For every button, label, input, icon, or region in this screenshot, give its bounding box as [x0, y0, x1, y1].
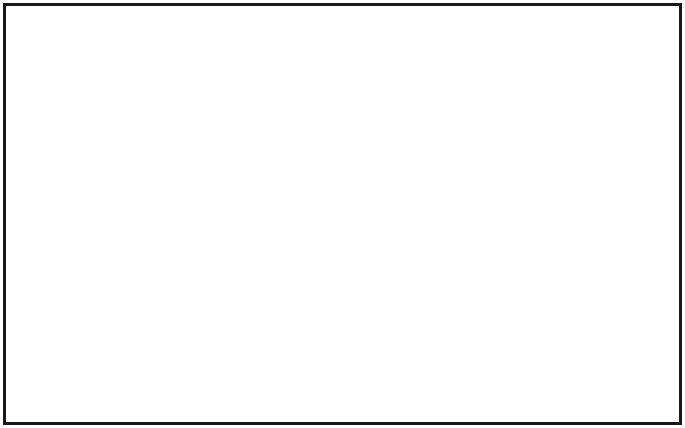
node-gossypin-label: Gossypin: [302, 61, 394, 85]
node-medicine-face: Medicine: [56, 176, 232, 271]
node-medicine-label: Medicine: [104, 213, 185, 234]
node-others[interactable]: Others: [466, 156, 662, 271]
node-gossypin-face: Gossypin: [261, 28, 436, 118]
node-others-face: Others: [486, 176, 662, 271]
node-chemicals-uses-face: Natural colourant, Textile industry: [271, 315, 447, 413]
node-others-uses-label: Antioxidants, Insecticides: [521, 344, 626, 383]
node-gossypin[interactable]: Gossypin: [241, 8, 436, 118]
diagram-canvas: Gossypin Medicine Chemicals Others: [8, 8, 677, 420]
node-medicine[interactable]: Medicine: [36, 156, 232, 271]
node-medicine-uses-face: Anticancer, Anti-ageing agent and others: [56, 315, 232, 413]
node-others-label: Others: [544, 213, 605, 234]
figure-container: Gossypin Medicine Chemicals Others: [0, 0, 685, 428]
node-chemicals[interactable]: Chemicals: [251, 156, 447, 271]
node-chemicals-uses-label: Natural colourant, Textile industry: [299, 334, 420, 393]
edge-bus-to-medicine: [120, 134, 122, 156]
node-chemicals-label: Chemicals: [315, 213, 404, 234]
node-medicine-uses[interactable]: Anticancer, Anti-ageing agent and others: [36, 295, 232, 413]
node-chemicals-uses[interactable]: Natural colourant, Textile industry: [251, 295, 447, 413]
node-others-uses-face: Antioxidants, Insecticides: [486, 315, 662, 413]
node-chemicals-face: Chemicals: [271, 176, 447, 271]
node-medicine-uses-label: Anticancer, Anti-ageing agent and others: [81, 334, 206, 393]
edge-bus-to-chemicals: [335, 134, 337, 156]
edge-bus-to-others: [550, 134, 552, 156]
node-others-uses[interactable]: Antioxidants, Insecticides: [466, 295, 662, 413]
